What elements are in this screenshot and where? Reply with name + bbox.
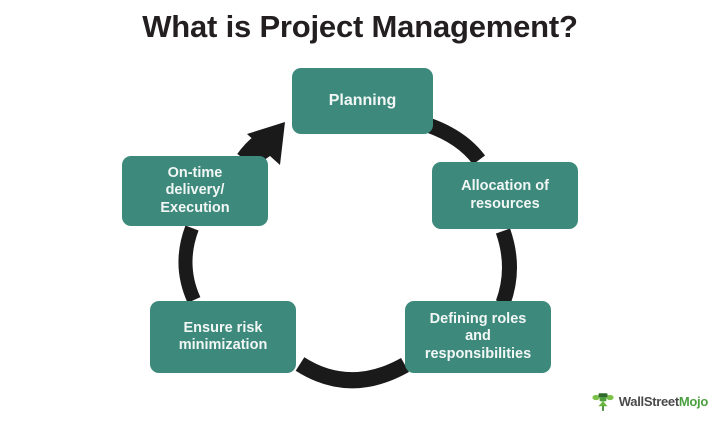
connector-defining-to-ensure (300, 364, 405, 380)
node-ensure-risk[interactable]: Ensure risk minimization (150, 301, 296, 373)
node-on-time-delivery-label: On-time delivery/ Execution (160, 165, 229, 218)
brand-name-accent: Mojo (679, 394, 708, 409)
node-defining-roles-label: Defining roles and responsibilities (425, 311, 531, 364)
node-ensure-risk-label: Ensure risk minimization (179, 320, 268, 355)
connector-planning-to-allocation (428, 125, 479, 160)
node-allocation-label: Allocation of resources (461, 178, 549, 213)
node-planning[interactable]: Planning (292, 68, 433, 134)
bull-logo-icon (592, 390, 614, 412)
connector-allocation-to-defining (503, 231, 510, 303)
brand-logo[interactable]: WallStreetMojo (592, 390, 708, 412)
diagram-canvas: What is Project Management? Planning All… (0, 0, 720, 424)
node-on-time-delivery[interactable]: On-time delivery/ Execution (122, 156, 268, 226)
node-defining-roles[interactable]: Defining roles and responsibilities (405, 301, 551, 373)
connector-ensure-to-ontime (185, 228, 194, 300)
node-allocation[interactable]: Allocation of resources (432, 162, 578, 229)
node-planning-label: Planning (329, 92, 397, 110)
brand-name: WallStreetMojo (619, 394, 708, 409)
cycle-arrows (0, 0, 720, 424)
brand-name-primary: WallStreet (619, 394, 679, 409)
